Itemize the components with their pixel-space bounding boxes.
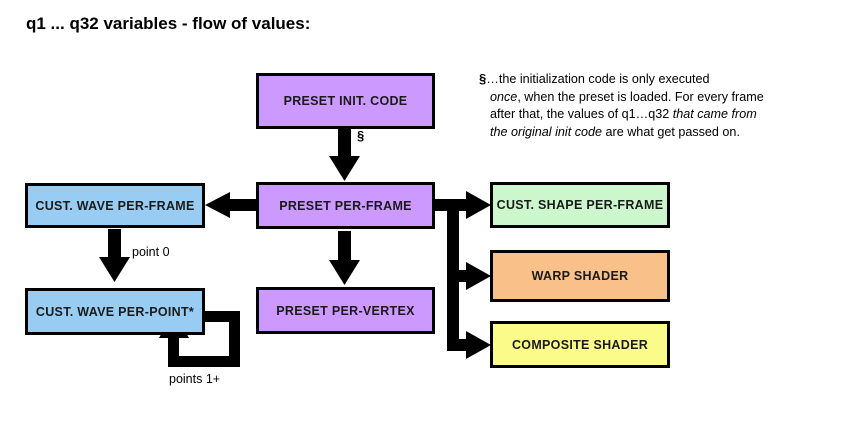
node-preset-per-frame[interactable]: PRESET PER-FRAME [256, 182, 435, 229]
node-preset-per-vertex[interactable]: PRESET PER-VERTEX [256, 287, 435, 334]
footnote-note: §…the initialization code is only execut… [479, 70, 809, 141]
node-label: PRESET INIT. CODE [284, 94, 408, 108]
arrow-init-to-perframe [329, 128, 360, 181]
note-line-2: , when the preset is loaded. For every f… [517, 90, 763, 104]
note-line-1: …the initialization code is only execute… [486, 72, 709, 86]
node-label: CUST. WAVE PER-FRAME [35, 199, 194, 213]
node-cust-shape-per-frame[interactable]: CUST. SHAPE PER-FRAME [490, 182, 670, 228]
note-line-4-italic: the original init code [490, 125, 602, 139]
node-warp-shader[interactable]: WARP SHADER [490, 250, 670, 302]
node-preset-init-code[interactable]: PRESET INIT. CODE [256, 73, 435, 129]
node-label: WARP SHADER [532, 269, 629, 283]
note-line-3-italic: that came from [673, 107, 757, 121]
node-label: COMPOSITE SHADER [512, 338, 648, 352]
node-label: CUST. WAVE PER-POINT* [36, 305, 194, 319]
note-line-4: are what get passed on. [602, 125, 740, 139]
diagram-canvas: q1 ... q32 variables - flow of values: [0, 0, 850, 429]
note-line-2-italic: once [490, 90, 517, 104]
arrow-perframe-to-custwaveperframe [205, 192, 258, 218]
node-cust-wave-per-frame[interactable]: CUST. WAVE PER-FRAME [25, 183, 205, 228]
note-line-3: after that, the values of q1…q32 [490, 107, 673, 121]
footnote-marker-section: § [357, 128, 364, 143]
arrow-perframe-to-shaders-trunk [434, 191, 491, 359]
edge-label-point-0: point 0 [132, 245, 170, 259]
node-composite-shader[interactable]: COMPOSITE SHADER [490, 321, 670, 368]
arrow-custwaveperframe-to-custwaveperpoint [99, 229, 130, 282]
node-label: CUST. SHAPE PER-FRAME [497, 198, 664, 212]
node-cust-wave-per-point[interactable]: CUST. WAVE PER-POINT* [25, 288, 205, 335]
node-label: PRESET PER-VERTEX [276, 304, 414, 318]
edge-label-points-1-plus: points 1+ [169, 372, 220, 386]
node-label: PRESET PER-FRAME [279, 199, 412, 213]
arrow-perframe-to-pervertex [329, 231, 360, 285]
